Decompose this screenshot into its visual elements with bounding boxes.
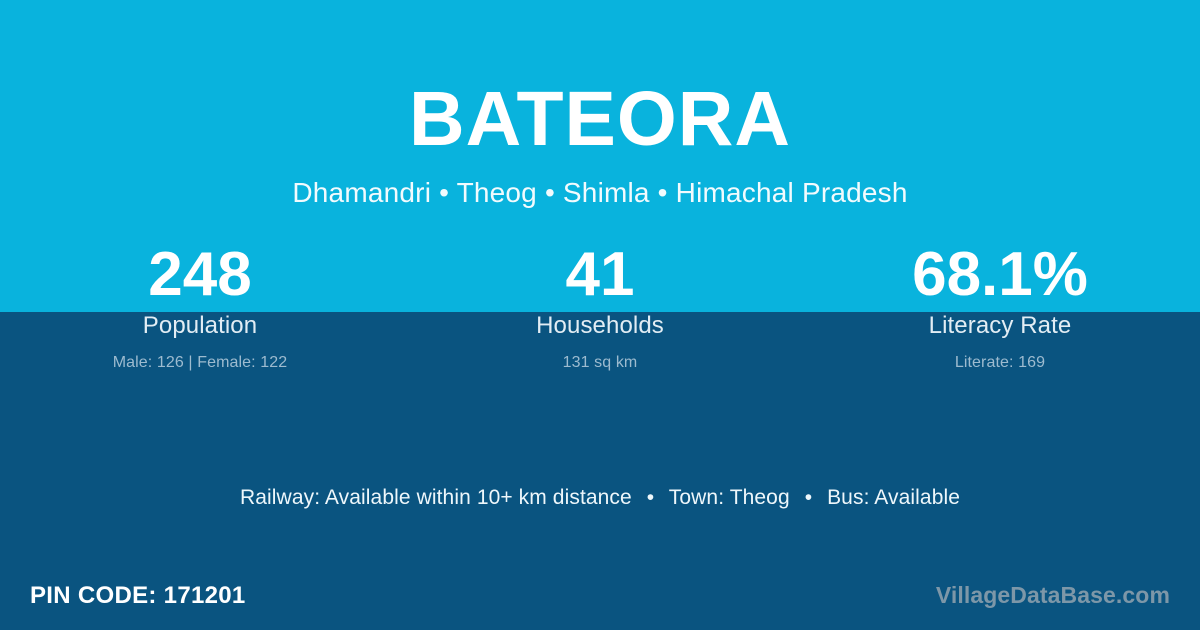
site-brand-label: VillageDataBase.com: [936, 584, 1170, 607]
pin-code-label: PIN CODE: 171201: [30, 584, 246, 608]
stat-value: 248: [0, 244, 400, 306]
stats-row: 248 Population Male: 126 | Female: 122 4…: [0, 244, 1200, 371]
village-info-card: BATEORA Dhamandri • Theog • Shimla • Him…: [0, 0, 1200, 630]
amenity-separator-icon: •: [638, 487, 663, 508]
stat-sublabel: 131 sq km: [400, 355, 800, 371]
page-title: BATEORA: [0, 81, 1200, 158]
amenity-town: Town: Theog: [669, 486, 790, 509]
stat-value: 41: [400, 244, 800, 306]
stat-label: Literacy Rate: [800, 314, 1200, 338]
amenity-bus: Bus: Available: [827, 486, 960, 509]
stat-label: Households: [400, 314, 800, 338]
stat-literacy-rate: 68.1% Literacy Rate Literate: 169: [800, 244, 1200, 371]
stat-sublabel: Literate: 169: [800, 355, 1200, 371]
breadcrumb: Dhamandri • Theog • Shimla • Himachal Pr…: [0, 179, 1200, 207]
stat-population: 248 Population Male: 126 | Female: 122: [0, 244, 400, 371]
amenity-separator-icon: •: [796, 487, 821, 508]
amenities-line: Railway: Available within 10+ km distanc…: [0, 487, 1200, 508]
header-block: BATEORA Dhamandri • Theog • Shimla • Him…: [0, 0, 1200, 207]
stat-label: Population: [0, 314, 400, 338]
footer: PIN CODE: 171201 VillageDataBase.com: [0, 573, 1200, 618]
amenity-railway: Railway: Available within 10+ km distanc…: [240, 486, 632, 509]
stat-households: 41 Households 131 sq km: [400, 244, 800, 371]
stat-value: 68.1%: [800, 244, 1200, 306]
stat-sublabel: Male: 126 | Female: 122: [0, 355, 400, 371]
